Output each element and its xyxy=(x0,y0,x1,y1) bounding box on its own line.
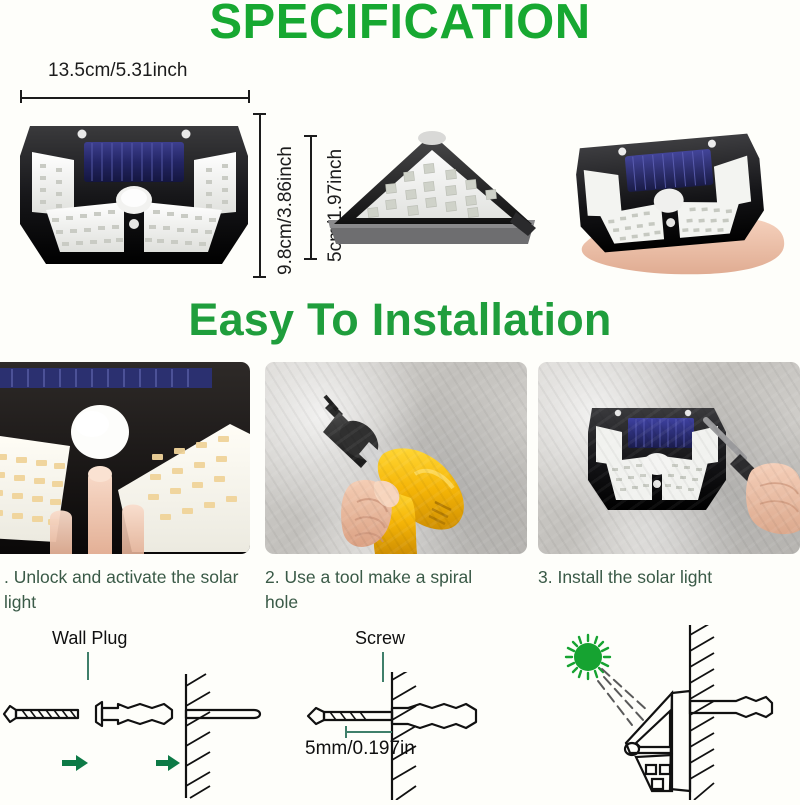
install-photo-2-drill xyxy=(265,362,527,554)
dimension-height-tick-top xyxy=(253,113,266,115)
dimension-height-label: 9.8cm/3.86inch xyxy=(275,146,297,275)
dimension-width-tick-right xyxy=(248,90,250,103)
install-photo-1-unlock xyxy=(0,362,250,554)
page-title: SPECIFICATION xyxy=(0,0,800,50)
solar-light-side-view xyxy=(320,124,545,254)
dimension-width-line xyxy=(20,97,250,99)
install-photo-3-mount xyxy=(538,362,800,554)
dimension-width-tick-left xyxy=(20,90,22,103)
hole-depth-label: 5mm/0.197in xyxy=(305,738,415,760)
screw-label: Screw xyxy=(355,628,405,649)
dimension-height-tick-bottom xyxy=(253,276,266,278)
wall-plug-label: Wall Plug xyxy=(52,628,127,649)
specification-infographic: SPECIFICATION 13.5cm/5.31inch 9.8cm/3.86… xyxy=(0,0,800,800)
dimension-width-label: 13.5cm/5.31inch xyxy=(48,60,187,82)
dimension-depth-line xyxy=(310,135,312,260)
diagram-mounted-light-with-sun xyxy=(540,625,800,800)
section-title-installation: Easy To Installation xyxy=(0,295,800,345)
diagram-screw-in-plug xyxy=(290,672,530,800)
arrow-icon xyxy=(62,755,180,771)
solar-light-in-hand xyxy=(556,122,796,284)
diagram-screw-and-plug xyxy=(0,672,270,800)
solar-light-front-view xyxy=(16,112,252,278)
dimension-depth-tick-top xyxy=(304,135,317,137)
install-step-3-caption: 3. Install the solar light xyxy=(538,565,788,590)
install-step-2-caption: 2. Use a tool make a spiral hole xyxy=(265,565,505,615)
dimension-height-line xyxy=(259,113,261,278)
dimension-depth-tick-bottom xyxy=(304,258,317,260)
sun-icon xyxy=(566,635,610,679)
install-step-1-caption: . Unlock and activate the solar light xyxy=(4,565,240,615)
